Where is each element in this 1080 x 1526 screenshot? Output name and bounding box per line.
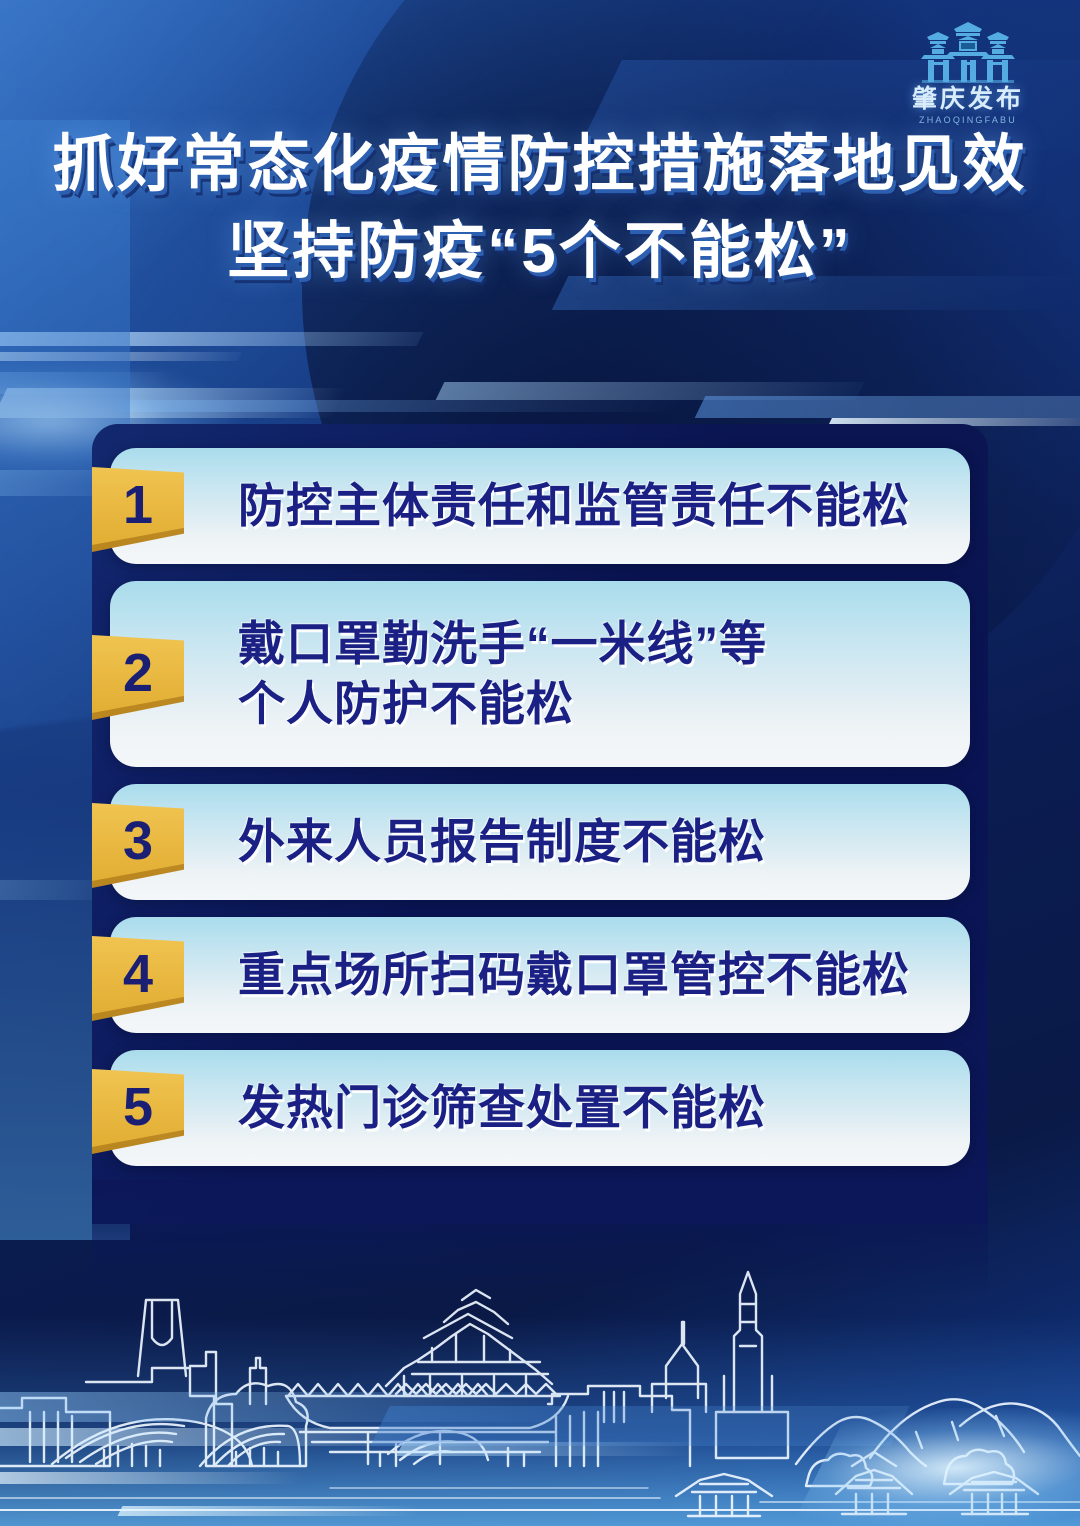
streak-top-f: [436, 382, 865, 400]
brand-name: 肇庆发布: [902, 86, 1034, 112]
item-number: 2: [123, 646, 153, 700]
item-text: 重点场所扫码戴口罩管控不能松: [238, 945, 934, 1005]
item-text: 防控主体责任和监管责任不能松: [238, 476, 934, 536]
list-item[interactable]: 4 重点场所扫码戴口罩管控不能松: [110, 917, 970, 1033]
measures-list: 1 防控主体责任和监管责任不能松 2 戴口罩勤洗手“一米线”等 个人防护不能松 …: [110, 448, 970, 1183]
poster-root: 肇庆发布 ZHAOQINGFABU 抓好常态化疫情防控措施落地见效 坚持防疫“5…: [0, 0, 1080, 1526]
item-text-line: 防控主体责任和监管责任不能松: [238, 476, 910, 536]
item-text-line: 个人防护不能松: [238, 674, 767, 734]
item-number: 5: [123, 1080, 153, 1134]
list-item[interactable]: 5 发热门诊筛查处置不能松: [110, 1050, 970, 1166]
item-text-line: 外来人员报告制度不能松: [238, 812, 766, 872]
title-line-1: 抓好常态化疫情防控措施落地见效: [0, 128, 1080, 201]
title-line-2: 坚持防疫“5个不能松”: [0, 215, 1080, 288]
list-item[interactable]: 1 防控主体责任和监管责任不能松: [110, 448, 970, 564]
item-text: 外来人员报告制度不能松: [238, 812, 790, 872]
item-text: 戴口罩勤洗手“一米线”等 个人防护不能松: [238, 614, 791, 734]
streak-top-e: [117, 400, 683, 412]
list-item[interactable]: 3 外来人员报告制度不能松: [110, 784, 970, 900]
streak-bottom-g: [118, 1506, 423, 1516]
item-number: 4: [123, 947, 153, 1001]
item-text-line: 戴口罩勤洗手“一米线”等: [238, 614, 767, 674]
streak-bottom-c: [0, 1472, 303, 1484]
item-text: 发热门诊筛查处置不能松: [238, 1078, 790, 1138]
archway-gate-icon: [902, 22, 1034, 84]
page-title: 抓好常态化疫情防控措施落地见效 坚持防疫“5个不能松”: [0, 128, 1080, 288]
bottom-streak-group: [0, 1296, 1080, 1526]
streak-bottom-d: [370, 1406, 910, 1446]
item-text-line: 发热门诊筛查处置不能松: [238, 1078, 766, 1138]
streak-top-c: [0, 372, 175, 394]
brand-pinyin: ZHAOQINGFABU: [902, 115, 1034, 125]
streak-bottom-e: [397, 1442, 704, 1456]
item-text-line: 重点场所扫码戴口罩管控不能松: [238, 945, 910, 1005]
brand-logo: 肇庆发布 ZHAOQINGFABU: [902, 22, 1034, 125]
streak-top-d: [0, 388, 347, 418]
streak-top-a: [0, 332, 423, 346]
item-number: 3: [123, 814, 153, 868]
streak-top-g: [695, 396, 1080, 418]
item-number: 1: [123, 478, 153, 532]
streak-top-b: [0, 352, 242, 361]
list-item[interactable]: 2 戴口罩勤洗手“一米线”等 个人防护不能松: [110, 581, 970, 767]
